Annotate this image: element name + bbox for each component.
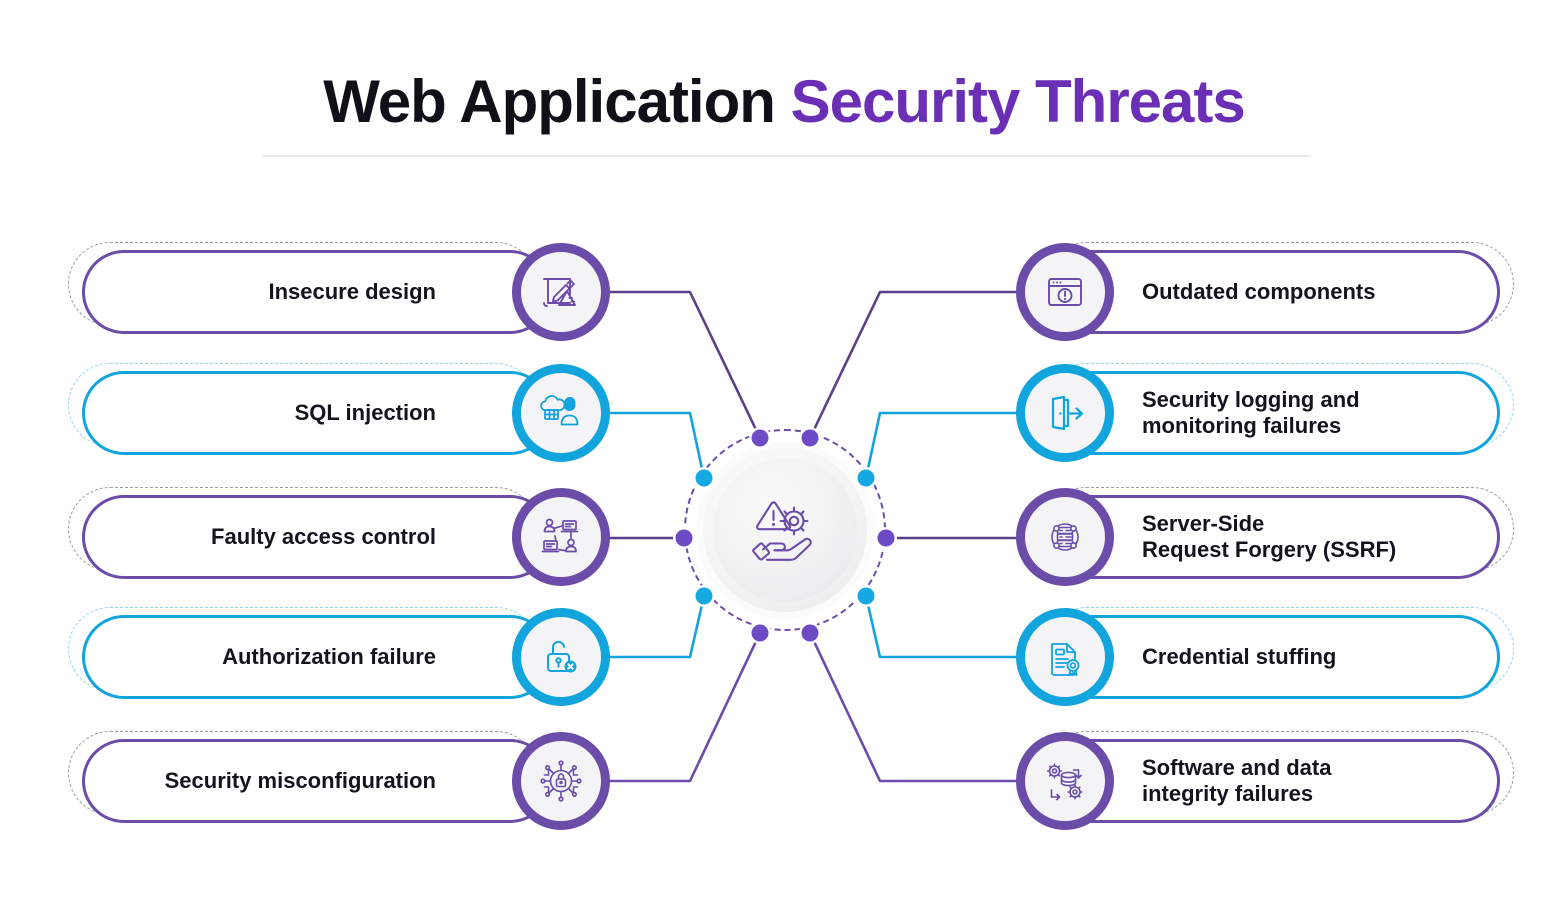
door-exit-arrow-icon [1037,385,1093,441]
title-divider [263,155,1310,157]
wire-right-4 [866,596,1029,657]
users-network-laptops-icon [533,509,589,565]
title-part-accent: Security Threats [791,68,1245,135]
threat-item-authorization-failure[interactable]: Authorization failure [68,607,538,691]
hub-dot-upper-left-cyan [696,470,713,487]
browser-window-alert-icon [1037,264,1093,320]
threat-icon-circle[interactable] [512,488,610,586]
threat-label: Authorization failure [82,615,502,699]
hub-dot-upper-right-cyan [858,470,875,487]
threat-icon-circle[interactable] [1016,243,1114,341]
wire-right-2 [866,413,1029,478]
threat-icon-circle[interactable] [512,608,610,706]
threat-icon-circle[interactable] [512,364,610,462]
threat-item-ssrf[interactable]: Server-Side Request Forgery (SSRF) [1030,487,1500,571]
threat-item-insecure-design[interactable]: Insecure design [68,242,538,326]
threat-icon-circle[interactable] [512,243,610,341]
threat-icon-circle[interactable] [512,732,610,830]
threat-label: Credential stuffing [1142,615,1512,699]
hub-dot-mid-left-purple [676,530,693,547]
threat-item-security-misconfiguration[interactable]: Security misconfiguration [68,731,538,815]
blueprint-pencil-ruler-icon [533,264,589,320]
threat-item-security-logging-monitoring-failures[interactable]: Security logging and monitoring failures [1030,363,1500,447]
title-part-primary: Web Application [323,68,790,135]
threat-label: Server-Side Request Forgery (SSRF) [1142,495,1512,579]
wire-right-1 [810,292,1029,438]
threat-item-sql-injection[interactable]: SQL injection [68,363,538,447]
page-title: Web Application Security Threats [0,72,1568,132]
threat-label: Software and data integrity failures [1142,739,1512,823]
threat-icon-circle[interactable] [1016,732,1114,830]
hub-dot-lower-right-cyan [858,588,875,605]
threat-item-software-data-integrity-failures[interactable]: Software and data integrity failures [1030,731,1500,815]
server-globe-icon [1037,509,1093,565]
threat-label: Faulty access control [82,495,502,579]
hub-dot-mid-right-purple [878,530,895,547]
circuit-lock-icon [533,753,589,809]
infographic-canvas: Web Application Security Threats [0,0,1568,909]
threat-icon-circle[interactable] [1016,488,1114,586]
hub-dot-bottom-right-purple [802,625,819,642]
threat-item-outdated-components[interactable]: Outdated components [1030,242,1500,326]
threat-label: Outdated components [1142,250,1512,334]
hub-dot-top-left-purple [752,430,769,447]
database-user-icon [533,385,589,441]
threat-label: Security misconfiguration [82,739,502,823]
hub-dot-lower-left-cyan [696,588,713,605]
hub-dot-bottom-left-purple [752,625,769,642]
threat-label: Security logging and monitoring failures [1142,371,1512,455]
central-hub [684,429,886,631]
threat-label: Insecure design [82,250,502,334]
threat-item-faulty-access-control[interactable]: Faulty access control [68,487,538,571]
threat-icon-circle[interactable] [1016,608,1114,706]
threat-icon-circle[interactable] [1016,364,1114,462]
open-padlock-x-icon [533,629,589,685]
wire-right-5 [810,633,1029,781]
document-seal-icon [1037,629,1093,685]
threat-label: SQL injection [82,371,502,455]
gears-database-sync-icon [1037,753,1093,809]
hub-dot-top-right-purple [802,430,819,447]
hand-holding-warning-gear-icon [747,497,823,563]
hub-disc-inner [713,458,857,602]
hub-disc [703,448,867,612]
threat-item-credential-stuffing[interactable]: Credential stuffing [1030,607,1500,691]
